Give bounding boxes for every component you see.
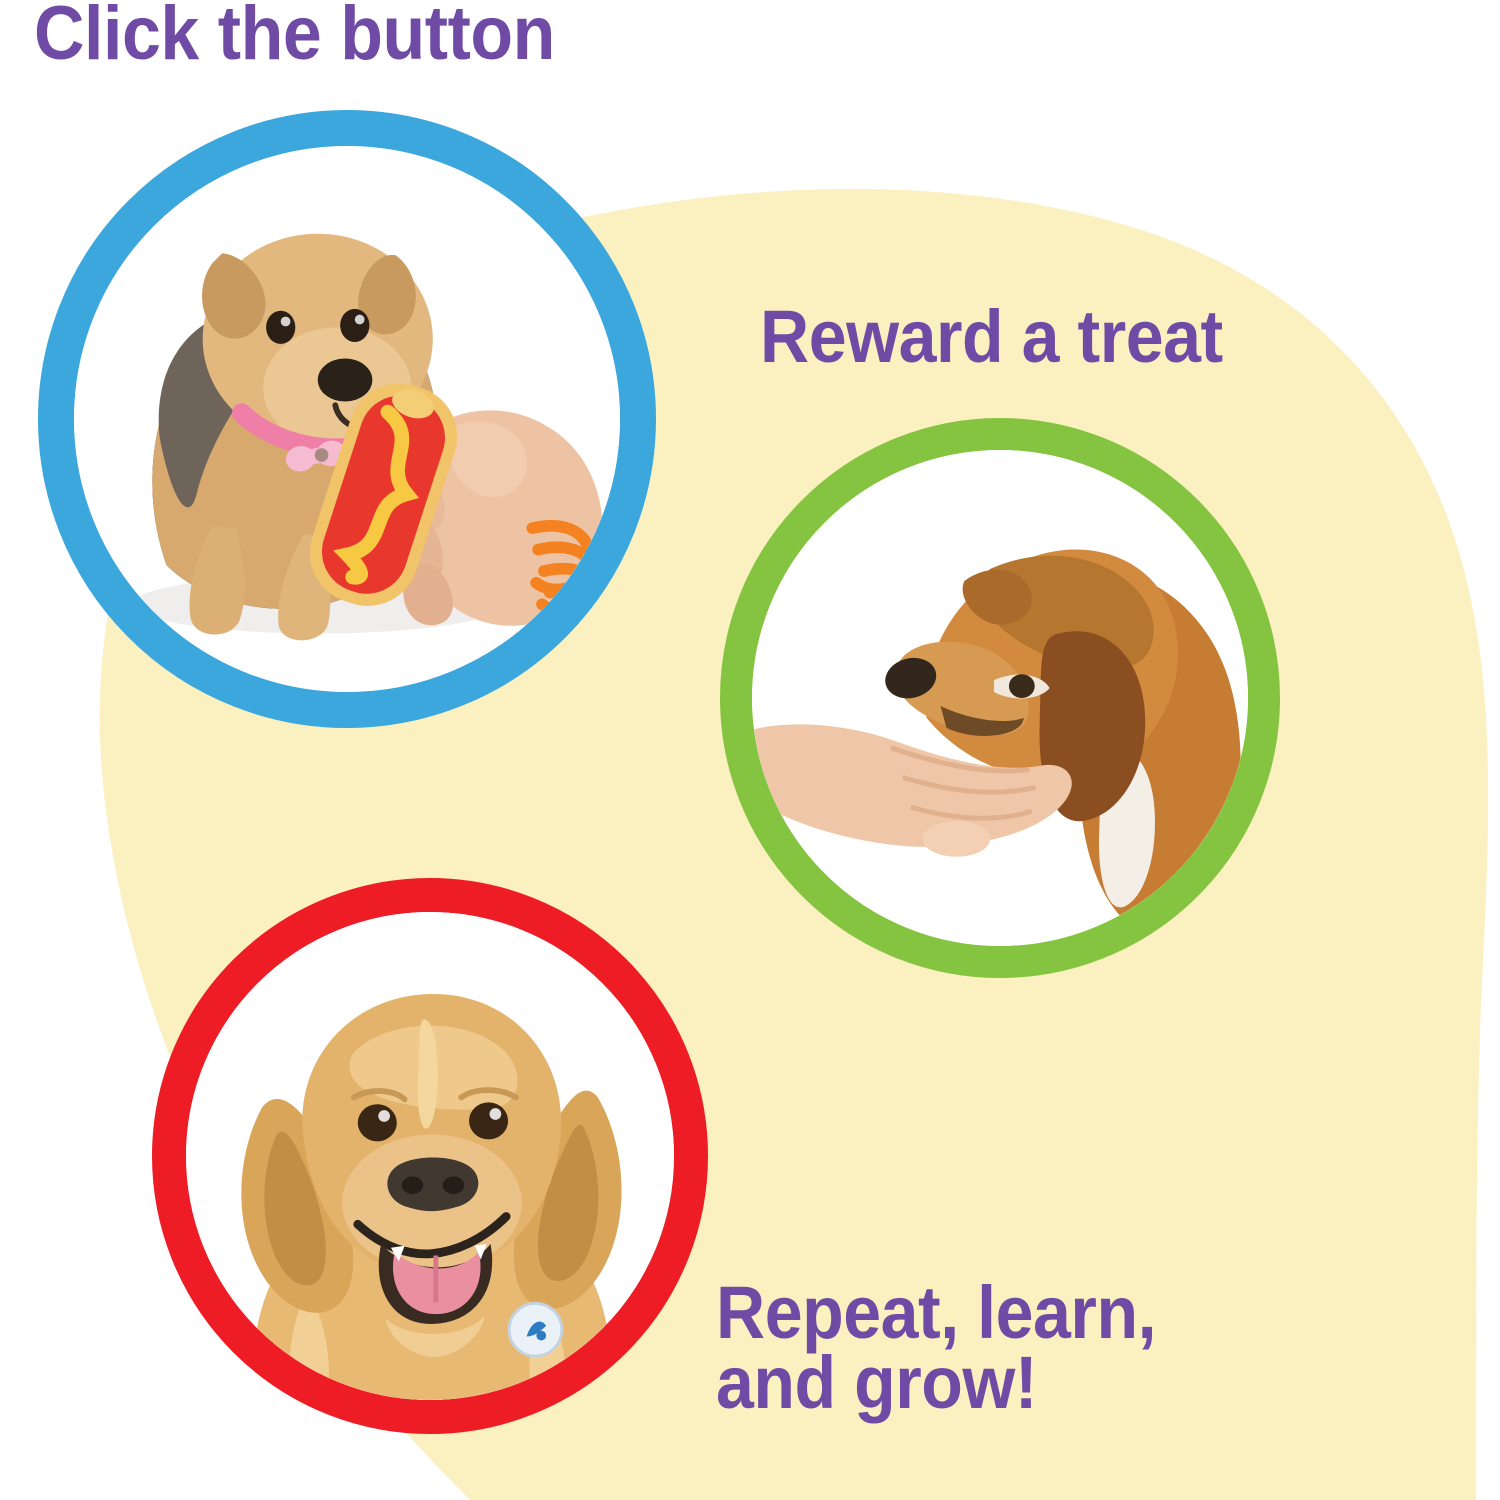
heading-reward-a-treat: Reward a treat <box>760 300 1223 374</box>
heading-repeat-learn-and-grow: Repeat, learn, and grow! <box>716 1278 1156 1417</box>
heading-click-the-button: Click the button <box>34 0 555 72</box>
dog-taking-treat-illustration <box>752 450 1248 946</box>
dog-taking-treat-photo <box>752 450 1248 946</box>
puppy-and-clicker-illustration <box>74 146 620 692</box>
photo-circle-reward-a-treat <box>720 418 1280 978</box>
photo-circle-click-the-button <box>38 110 656 728</box>
infographic-canvas: Click the button <box>0 0 1500 1500</box>
golden-retriever-illustration <box>186 912 674 1400</box>
golden-retriever-photo <box>186 912 674 1400</box>
photo-circle-repeat-learn-and-grow <box>152 878 708 1434</box>
puppy-and-clicker-photo <box>74 146 620 692</box>
